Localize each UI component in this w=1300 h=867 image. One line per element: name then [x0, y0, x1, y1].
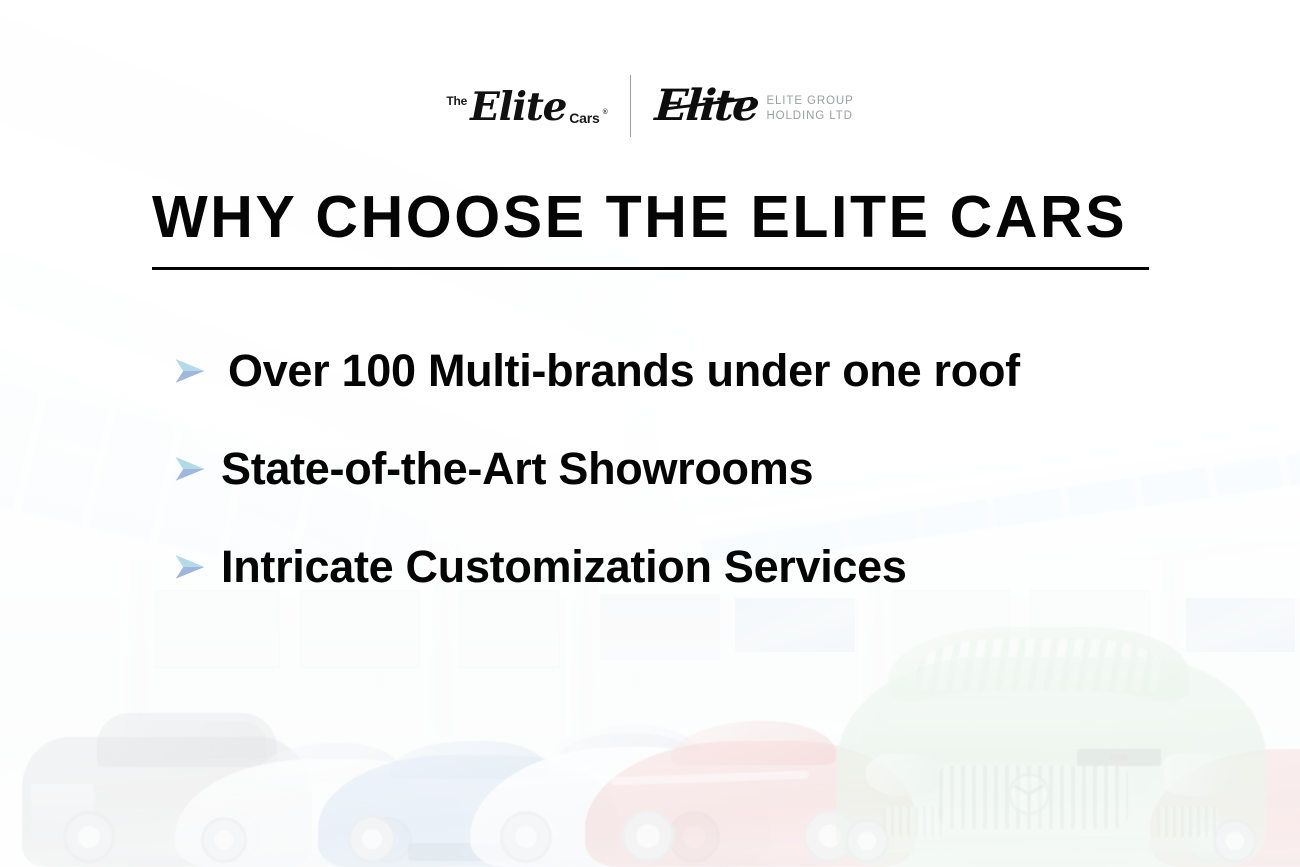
list-item: Over 100 Multi-brands under one roof: [152, 322, 1212, 420]
logo-elite-script-text: Elite: [470, 88, 566, 127]
arrow-bullet-icon: [152, 551, 206, 583]
page-title: WHY CHOOSE THE ELITE CARS: [152, 186, 1127, 249]
logo-the-text: The: [446, 95, 467, 107]
list-item: State-of-the-Art Showrooms: [152, 420, 1212, 518]
registered-trademark-icon: ®: [603, 109, 608, 116]
logo-the-elite-cars[interactable]: The Elite Cars ®: [446, 83, 629, 129]
arrow-bullet-icon: [152, 355, 206, 387]
slide-why-choose-the-elite-cars: Elite The Elite Cars ®: [0, 0, 1300, 867]
arrow-bullet-icon: [152, 453, 206, 485]
list-item-label: Intricate Customization Services: [206, 542, 907, 592]
logo-elite-brush-script: Elite: [653, 85, 759, 128]
logo-cars-text: Cars: [569, 111, 599, 125]
logo-elite-group-line2: HOLDING LTD: [766, 110, 853, 123]
logo-bar: The Elite Cars ® Elite ELITE GROUP HOLDI…: [0, 76, 1300, 136]
list-item-label: State-of-the-Art Showrooms: [206, 444, 813, 494]
slide-content: The Elite Cars ® Elite ELITE GROUP HOLDI…: [0, 0, 1300, 867]
logo-elite-group-holding[interactable]: Elite ELITE GROUP HOLDING LTD: [631, 80, 854, 132]
list-item: Intricate Customization Services: [152, 518, 1212, 616]
title-underline-rule: [152, 267, 1149, 270]
list-item-label: Over 100 Multi-brands under one roof: [206, 346, 1020, 396]
logo-elite-brush-text: Elite: [653, 81, 759, 131]
logo-elite-group-line1: ELITE GROUP: [766, 95, 853, 108]
logo-elite-group-wordmark: ELITE GROUP HOLDING LTD: [766, 89, 853, 123]
benefits-list: Over 100 Multi-brands under one roof Sta…: [152, 322, 1212, 616]
